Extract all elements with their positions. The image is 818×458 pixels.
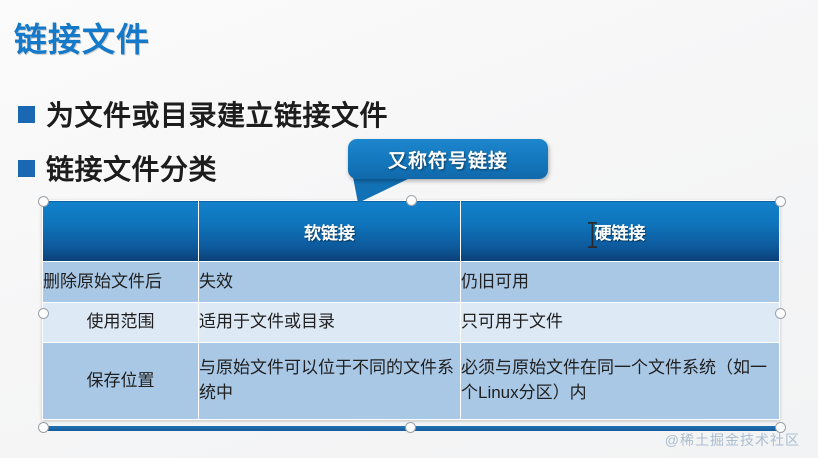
row-hard-2[interactable]: 必须与原始文件在同一个文件系统（如一个Linux分区）内 xyxy=(461,343,780,420)
row-soft-2[interactable]: 与原始文件可以位于不同的文件系统中 xyxy=(199,343,461,420)
square-bullet-icon xyxy=(18,106,35,123)
selection-handle-bottom-left[interactable] xyxy=(38,422,49,433)
row-soft-0[interactable]: 失效 xyxy=(199,262,461,303)
table-body: 删除原始文件后 失效 仍旧可用 使用范围 适用于文件或目录 只可用于文件 保存位… xyxy=(43,262,780,420)
row-label-1[interactable]: 使用范围 xyxy=(43,303,199,343)
selection-handle-top-left[interactable] xyxy=(38,196,49,207)
row-hard-0[interactable]: 仍旧可用 xyxy=(461,262,780,303)
table-header-blank[interactable] xyxy=(43,201,199,262)
table-header-row: 软链接 硬链接 xyxy=(43,201,780,262)
selection-handle-middle-right[interactable] xyxy=(775,308,786,319)
text-cursor-icon xyxy=(588,222,597,248)
bullet-item-0: 为文件或目录建立链接文件 xyxy=(18,94,388,134)
page-title: 链接文件 xyxy=(14,13,150,61)
row-hard-1[interactable]: 只可用于文件 xyxy=(461,303,780,343)
callout-box[interactable]: 又称符号链接 xyxy=(348,139,548,179)
table-header-hard-link[interactable]: 硬链接 xyxy=(461,201,780,262)
selection-handle-middle-left[interactable] xyxy=(38,308,49,319)
watermark-text: @稀土掘金技术社区 xyxy=(665,430,800,450)
bullet-item-1: 链接文件分类 xyxy=(18,148,217,188)
bullet-label-1: 链接文件分类 xyxy=(46,148,217,188)
table-row: 使用范围 适用于文件或目录 只可用于文件 xyxy=(43,303,780,343)
row-label-2[interactable]: 保存位置 xyxy=(43,343,199,420)
table-row: 保存位置 与原始文件可以位于不同的文件系统中 必须与原始文件在同一个文件系统（如… xyxy=(43,343,780,420)
table-row: 删除原始文件后 失效 仍旧可用 xyxy=(43,262,780,303)
table-header: 软链接 硬链接 xyxy=(43,201,780,262)
bullet-label-0: 为文件或目录建立链接文件 xyxy=(46,94,388,134)
square-bullet-icon xyxy=(18,160,35,177)
table-header-soft-link[interactable]: 软链接 xyxy=(199,201,461,262)
row-label-0[interactable]: 删除原始文件后 xyxy=(43,262,199,303)
callout-anchor-handle[interactable] xyxy=(406,195,417,206)
selection-handle-bottom-center[interactable] xyxy=(405,422,416,433)
comparison-table: 软链接 硬链接 删除原始文件后 失效 仍旧可用 使用范围 适用于文件或目录 只可… xyxy=(42,200,780,420)
selection-handle-top-right[interactable] xyxy=(775,196,786,207)
callout-label: 又称符号链接 xyxy=(348,139,548,179)
slide-canvas: 链接文件 为文件或目录建立链接文件 链接文件分类 又称符号链接 软链接 硬链接 … xyxy=(0,0,818,458)
row-soft-1[interactable]: 适用于文件或目录 xyxy=(199,303,461,343)
